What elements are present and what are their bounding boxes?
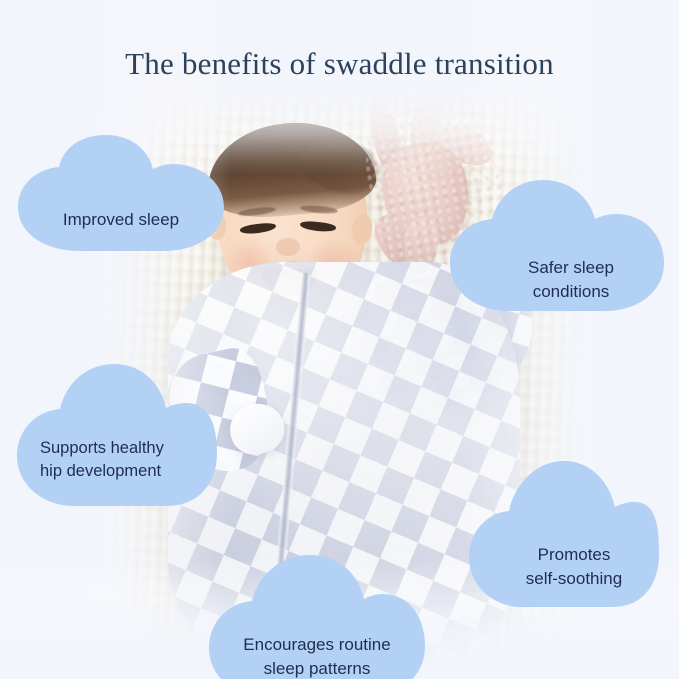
cloud-shape-icon <box>14 133 228 255</box>
benefit-cloud-hip-development: Supports healthy hip development <box>14 358 220 510</box>
infographic-stage: The benefits of swaddle transition Impro… <box>0 0 679 679</box>
cloud-shape-icon <box>466 455 662 611</box>
cloud-shape-icon <box>14 358 220 510</box>
cloud-shape-icon <box>206 552 428 679</box>
page-title: The benefits of swaddle transition <box>0 46 679 82</box>
benefit-cloud-sleep-patterns: Encourages routine sleep patterns <box>206 552 428 679</box>
baby-nose <box>276 238 300 256</box>
cloud-shape-icon <box>447 177 667 315</box>
benefit-cloud-safer-sleep: Safer sleep conditions <box>447 177 667 315</box>
benefit-cloud-self-soothing: Promotes self-soothing <box>466 455 662 611</box>
benefit-cloud-improved-sleep: Improved sleep <box>14 133 228 255</box>
